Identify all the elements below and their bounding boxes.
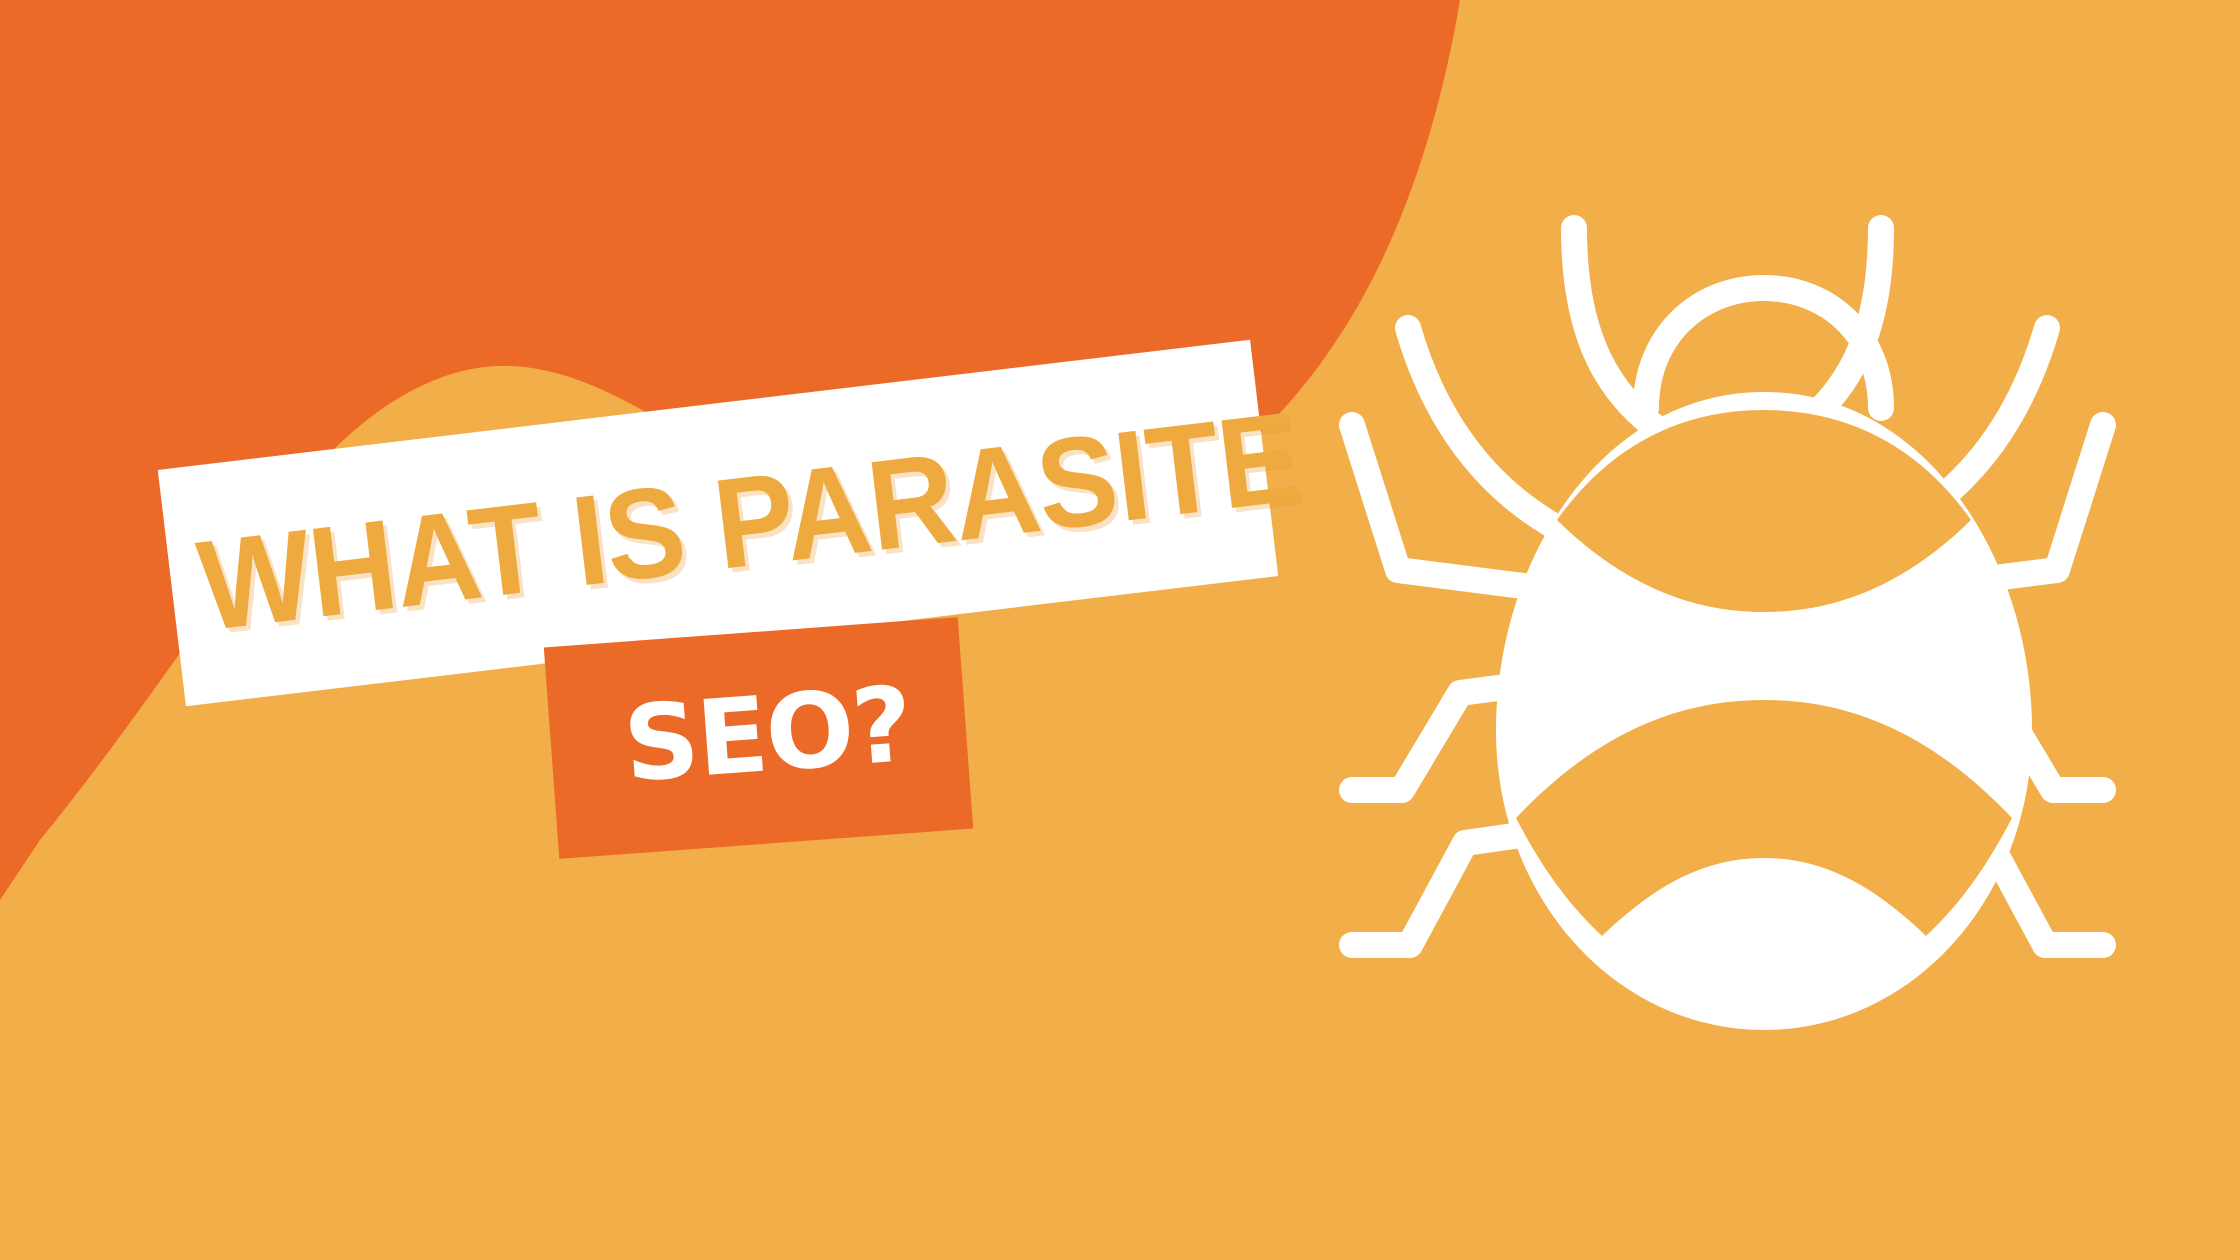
seo-text-wrap: SEO? — [544, 617, 973, 859]
leg-rear-left-icon — [1352, 832, 1542, 945]
page-title-line1: WHAT IS PARASITE — [192, 393, 1304, 651]
bug-icon — [1330, 170, 2230, 1060]
page-title-line2: SEO? — [603, 672, 915, 804]
poster-canvas: WHAT IS PARASITE SEO? — [0, 0, 2240, 1260]
